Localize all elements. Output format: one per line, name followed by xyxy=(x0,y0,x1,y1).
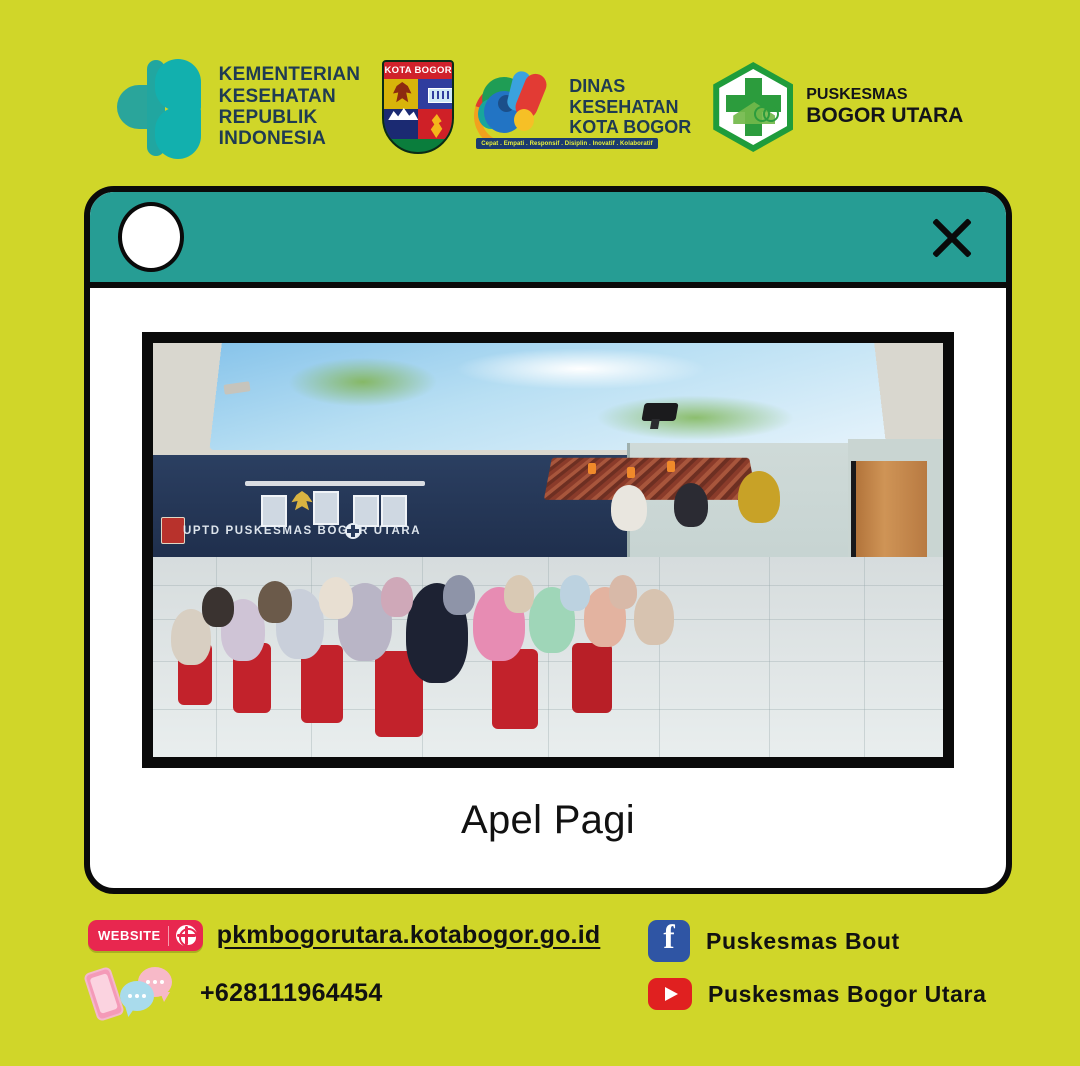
globe-icon xyxy=(176,925,197,946)
card-body: UPTD PUSKESMAS BOGOR UTARA xyxy=(90,288,1006,843)
phone-number: +628111964454 xyxy=(200,979,383,1008)
kemenkes-k-icon xyxy=(117,57,205,157)
kemenkes-line-2: KESEHATAN xyxy=(219,86,361,107)
phone-row: +628111964454 xyxy=(88,967,648,1019)
kemenkes-line-1: KEMENTERIAN xyxy=(219,64,361,85)
seated-attendees xyxy=(153,507,769,757)
palace-icon xyxy=(428,88,454,103)
photo-caption: Apel Pagi xyxy=(142,798,954,843)
kota-bogor-banner: KOTA BOGOR xyxy=(384,62,452,79)
kemenkes-logo: KEMENTERIAN KESEHATAN REPUBLIK INDONESIA xyxy=(117,57,361,157)
chat-bubble-blue-icon xyxy=(120,981,154,1011)
dinkes-line-3: KOTA BOGOR xyxy=(569,117,691,138)
youtube-row[interactable]: Puskesmas Bogor Utara xyxy=(648,978,1068,1010)
kemenkes-label: KEMENTERIAN KESEHATAN REPUBLIK INDONESIA xyxy=(219,64,361,150)
website-badge: WEBSITE xyxy=(88,920,203,951)
poster-canvas: KEMENTERIAN KESEHATAN REPUBLIK INDONESIA… xyxy=(0,0,1080,1066)
puskesmas-line-2: BOGOR UTARA xyxy=(806,104,963,128)
logo-bar: KEMENTERIAN KESEHATAN REPUBLIK INDONESIA… xyxy=(0,48,1080,166)
card-header-bar xyxy=(90,192,1006,288)
puskesmas-hexagon-icon xyxy=(713,62,793,152)
attendee-batik xyxy=(738,471,780,523)
profile-circle-icon[interactable] xyxy=(118,202,184,272)
photo-frame: UPTD PUSKESMAS BOGOR UTARA xyxy=(142,332,954,768)
youtube-label: Puskesmas Bogor Utara xyxy=(708,981,986,1008)
sky-ceiling-mural xyxy=(210,343,887,450)
puskesmas-line-1: PUSKESMAS xyxy=(806,86,963,105)
website-badge-label: WEBSITE xyxy=(98,928,161,943)
kemenkes-line-4: INDONESIA xyxy=(219,128,361,149)
dinkes-line-1: DINAS xyxy=(569,76,691,97)
contact-footer: WEBSITE pkmbogorutara.kotabogor.go.id + xyxy=(0,912,1080,1052)
social-right-column: Puskesmas Bout Puskesmas Bogor Utara xyxy=(648,920,1068,1010)
facebook-label: Puskesmas Bout xyxy=(706,928,900,955)
dinkes-tagline: Cepat . Empati . Responsif . Disiplin . … xyxy=(476,138,658,149)
youtube-icon[interactable] xyxy=(648,978,692,1010)
smartphone-icon xyxy=(83,966,125,1022)
content-card: UPTD PUSKESMAS BOGOR UTARA xyxy=(84,186,1012,894)
facebook-row[interactable]: Puskesmas Bout xyxy=(648,920,1068,962)
meeting-table xyxy=(544,458,758,500)
projector-icon xyxy=(641,403,678,421)
website-row: WEBSITE pkmbogorutara.kotabogor.go.id xyxy=(88,920,648,951)
kemenkes-line-3: REPUBLIK xyxy=(219,107,361,128)
website-url-link[interactable]: pkmbogorutara.kotabogor.go.id xyxy=(217,921,601,950)
dinas-kesehatan-logo: DINAS KESEHATAN KOTA BOGOR Cepat . Empat… xyxy=(474,69,691,145)
puskesmas-logo: PUSKESMAS BOGOR UTARA xyxy=(713,62,963,152)
close-icon[interactable] xyxy=(924,209,980,265)
dinkes-mark-icon xyxy=(474,69,558,145)
contact-left-column: WEBSITE pkmbogorutara.kotabogor.go.id + xyxy=(88,920,648,1019)
phone-chat-icons xyxy=(88,967,186,1019)
kota-bogor-emblem: KOTA BOGOR xyxy=(382,60,454,154)
dinkes-label: DINAS KESEHATAN KOTA BOGOR xyxy=(569,76,691,138)
dinkes-line-2: KESEHATAN xyxy=(569,97,691,118)
meeting-photo: UPTD PUSKESMAS BOGOR UTARA xyxy=(153,343,943,757)
facebook-icon[interactable] xyxy=(648,920,690,962)
puskesmas-label: PUSKESMAS BOGOR UTARA xyxy=(806,86,963,129)
